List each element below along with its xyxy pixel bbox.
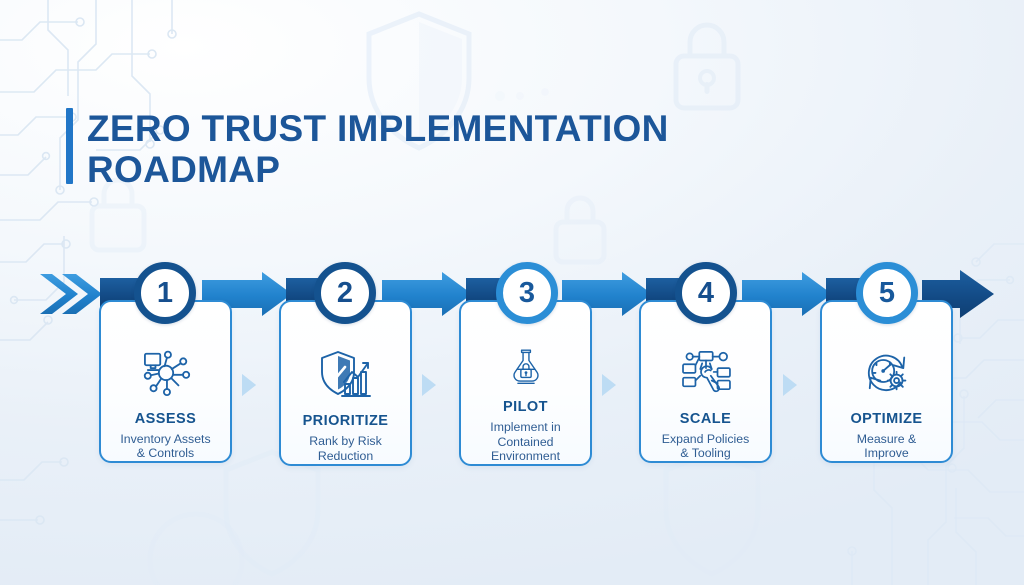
shield-watermark bbox=[666, 452, 758, 574]
step-number-circle-2[interactable]: 2 bbox=[314, 262, 376, 324]
step-number-5: 5 bbox=[879, 277, 895, 310]
step-description-2: Rank by Risk Reduction bbox=[301, 434, 389, 463]
padlock-watermark bbox=[676, 25, 738, 108]
step-number-3: 3 bbox=[519, 277, 535, 310]
step-title-3: PILOT bbox=[503, 399, 548, 415]
chevron-connector bbox=[780, 371, 806, 399]
step-card-4[interactable]: SCALE Expand Policies & Tooling bbox=[639, 300, 772, 463]
chevron-connector bbox=[599, 371, 625, 399]
band-lead-chevrons bbox=[40, 274, 102, 314]
gauge-gear-icon bbox=[859, 348, 915, 398]
step-number-circle-1[interactable]: 1 bbox=[134, 262, 196, 324]
step-card-1[interactable]: ASSESS Inventory Assets & Controls bbox=[99, 300, 232, 463]
page-title-block: ZERO TRUST IMPLEMENTATION ROADMAP bbox=[66, 108, 669, 190]
chevron-connector bbox=[239, 371, 265, 399]
step-number-circle-4[interactable]: 4 bbox=[675, 262, 737, 324]
step-card-2[interactable]: PRIORITIZE Rank by Risk Reduction bbox=[279, 300, 412, 466]
flask-lock-icon bbox=[498, 348, 554, 386]
step-description-1: Inventory Assets & Controls bbox=[112, 432, 218, 461]
step-title-4: SCALE bbox=[680, 411, 731, 427]
step-description-5: Measure & Improve bbox=[849, 432, 924, 461]
step-card-5[interactable]: OPTIMIZE Measure & Improve bbox=[820, 300, 953, 463]
page-title: ZERO TRUST IMPLEMENTATION ROADMAP bbox=[87, 108, 669, 190]
step-title-1: ASSESS bbox=[135, 411, 197, 427]
step-number-circle-3[interactable]: 3 bbox=[496, 262, 558, 324]
network-assets-magnifier-icon bbox=[138, 348, 194, 398]
padlock-watermark bbox=[92, 180, 144, 250]
shield-bar-chart-icon bbox=[318, 348, 374, 400]
title-accent-bar bbox=[66, 108, 73, 184]
step-number-1: 1 bbox=[157, 277, 173, 310]
step-description-3: Implement in Contained Environment bbox=[482, 420, 568, 464]
step-number-4: 4 bbox=[698, 277, 714, 310]
shield-watermark bbox=[226, 452, 318, 574]
infographic-canvas: ZERO TRUST IMPLEMENTATION ROADMAP bbox=[0, 0, 1024, 585]
step-description-4: Expand Policies & Tooling bbox=[654, 432, 758, 461]
step-card-3[interactable]: PILOT Implement in Contained Environment bbox=[459, 300, 592, 466]
step-number-circle-5[interactable]: 5 bbox=[856, 262, 918, 324]
chevron-connector bbox=[419, 371, 445, 399]
padlock-watermark bbox=[556, 198, 604, 262]
step-number-2: 2 bbox=[337, 277, 353, 310]
step-title-5: OPTIMIZE bbox=[850, 411, 922, 427]
network-nodes-wrench-icon bbox=[678, 348, 734, 398]
step-title-2: PRIORITIZE bbox=[303, 413, 389, 429]
